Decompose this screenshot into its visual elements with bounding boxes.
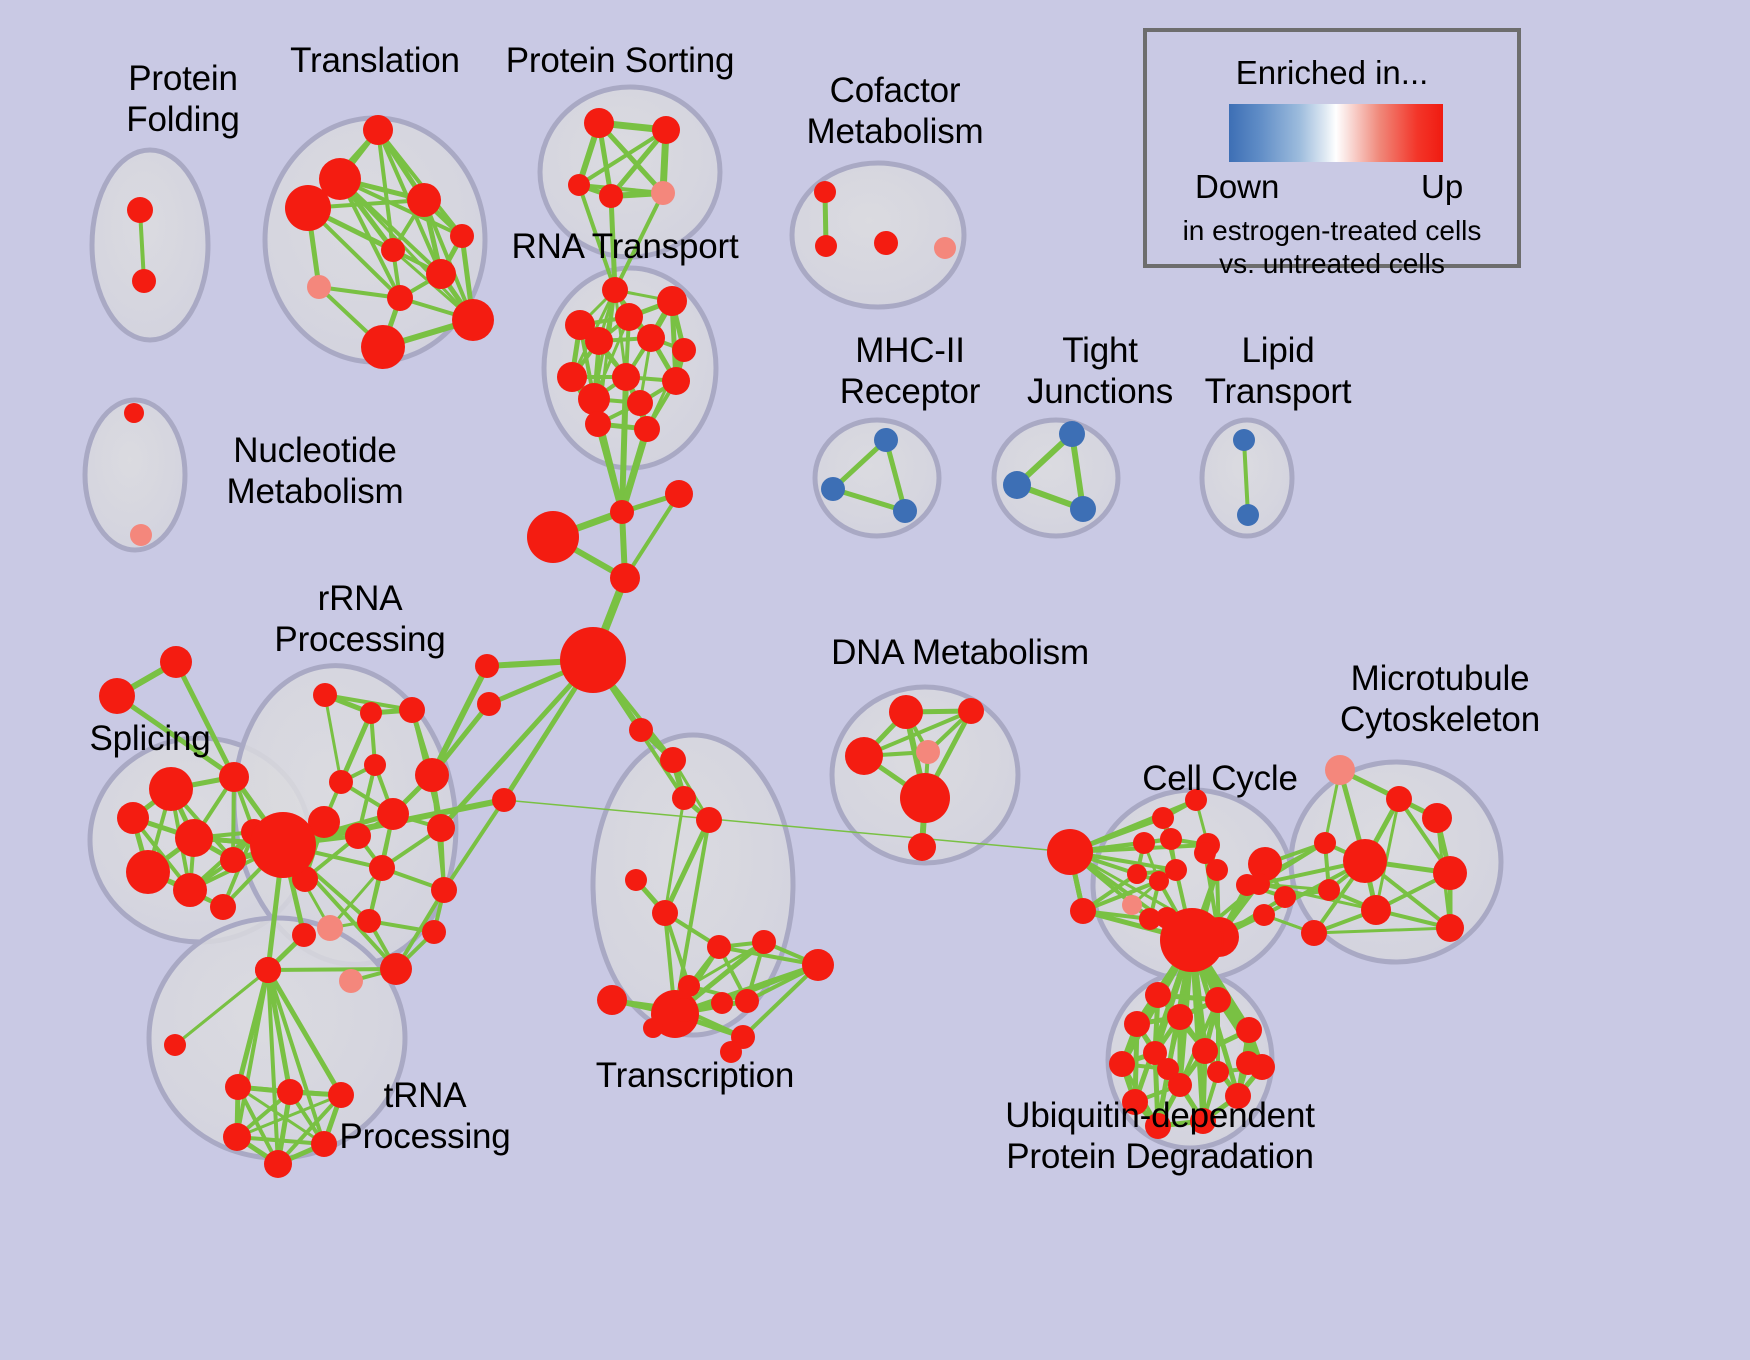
gene-set-node-microtubule-cytoskeleton xyxy=(1301,920,1327,946)
gene-set-node-ubiquitin-protein-degradation xyxy=(1162,910,1222,970)
gene-set-node-nucleotide-metabolism xyxy=(124,403,144,423)
gene-set-node-splicing xyxy=(117,802,149,834)
gene-set-node-rrna-processing xyxy=(422,920,446,944)
gene-set-node-cell-cycle xyxy=(1070,898,1096,924)
gene-set-node-transcription xyxy=(660,747,686,773)
gene-set-node-rna-transport xyxy=(634,416,660,442)
gene-set-node-ubiquitin-protein-degradation xyxy=(1190,1108,1216,1134)
gene-set-node-microtubule-cytoskeleton xyxy=(1436,914,1464,942)
gene-set-node-cofactor-metabolism xyxy=(874,231,898,255)
gene-set-node-rrna-processing xyxy=(415,758,449,792)
gene-set-node-trna-processing xyxy=(255,957,281,983)
gene-set-node-splicing xyxy=(149,767,193,811)
gene-set-node-rna-transport xyxy=(585,411,611,437)
gene-set-node-bridge xyxy=(475,654,499,678)
gene-set-node-rna-transport xyxy=(637,324,665,352)
gene-set-node-bridge xyxy=(610,563,640,593)
gene-set-node-transcription xyxy=(802,949,834,981)
gene-set-node-ubiquitin-protein-degradation xyxy=(1167,1004,1193,1030)
gene-set-node-transcription xyxy=(735,989,759,1013)
gene-set-node-transcription xyxy=(752,930,776,954)
gene-set-node-transcription xyxy=(711,992,733,1014)
gene-set-node-translation xyxy=(452,299,494,341)
gene-set-node-lipid-transport xyxy=(1237,504,1259,526)
gene-set-node-rna-transport xyxy=(612,363,640,391)
gene-set-node-rna-transport xyxy=(662,367,690,395)
gene-set-node-rrna-processing xyxy=(369,855,395,881)
cluster-ellipse-protein-folding xyxy=(92,150,208,340)
gene-set-node-tight-junctions xyxy=(1003,471,1031,499)
gene-set-node-transcription xyxy=(672,998,696,1022)
gene-set-node-protein-folding xyxy=(132,269,156,293)
gene-set-node-rna-transport xyxy=(627,390,653,416)
gene-set-node-translation xyxy=(307,275,331,299)
gene-set-node-splicing xyxy=(173,873,207,907)
gene-set-node-protein-sorting xyxy=(652,116,680,144)
edge-rrna-processing xyxy=(268,969,396,970)
gene-set-node-trna-processing xyxy=(311,1131,337,1157)
gene-set-node-cell-cycle xyxy=(1160,828,1182,850)
gene-set-node-ubiquitin-protein-degradation xyxy=(1236,1017,1262,1043)
gene-set-node-transcription xyxy=(643,1018,663,1038)
gene-set-node-ubiquitin-protein-degradation xyxy=(1122,1089,1148,1115)
gene-set-node-cell-cycle xyxy=(1152,807,1174,829)
gene-set-node-cell-cycle xyxy=(1206,859,1228,881)
gene-set-node-ubiquitin-protein-degradation xyxy=(1124,1011,1150,1037)
gene-set-node-bridge xyxy=(610,500,634,524)
gene-set-node-dna-metabolism xyxy=(889,695,923,729)
gene-set-node-mhc-ii-receptor xyxy=(874,428,898,452)
gene-set-node-translation xyxy=(285,185,331,231)
gene-set-node-microtubule-cytoskeleton xyxy=(1253,904,1275,926)
gene-set-node-transcription xyxy=(672,786,696,810)
gene-set-node-microtubule-cytoskeleton xyxy=(1314,832,1336,854)
gene-set-node-protein-sorting xyxy=(584,108,614,138)
legend-high-label: Up xyxy=(1421,168,1463,206)
gene-set-node-mhc-ii-receptor xyxy=(893,499,917,523)
gene-set-node-rrna-processing xyxy=(357,909,381,933)
legend-low-label: Down xyxy=(1195,168,1279,206)
gene-set-node-transcription xyxy=(696,807,722,833)
gene-set-node-splicing xyxy=(160,646,192,678)
network-figure: Protein FoldingTranslationProtein Sortin… xyxy=(0,0,1750,1360)
gene-set-node-rna-transport xyxy=(578,383,610,415)
gene-set-node-rna-transport xyxy=(557,362,587,392)
gene-set-node-rrna-processing xyxy=(360,702,382,724)
gene-set-node-transcription xyxy=(707,935,731,959)
gene-set-node-ubiquitin-protein-degradation xyxy=(1192,1038,1218,1064)
gene-set-node-cell-cycle xyxy=(1149,871,1169,891)
gene-set-node-tight-junctions xyxy=(1070,496,1096,522)
gene-set-node-bridge xyxy=(527,511,579,563)
gene-set-node-dna-metabolism xyxy=(958,698,984,724)
gene-set-node-cell-cycle xyxy=(1185,789,1207,811)
gene-set-node-transcription xyxy=(597,985,627,1015)
gene-set-node-translation xyxy=(381,238,405,262)
gene-set-node-bridge xyxy=(629,718,653,742)
gene-set-node-rrna-processing xyxy=(345,823,371,849)
gene-set-node-rrna-processing xyxy=(431,877,457,903)
gene-set-node-translation xyxy=(361,325,405,369)
legend-panel: Enriched in... Down Up in estrogen-treat… xyxy=(1143,28,1521,268)
gene-set-node-splicing xyxy=(210,894,236,920)
gene-set-node-translation xyxy=(450,224,474,248)
gene-set-node-dna-metabolism xyxy=(900,773,950,823)
legend-title: Enriched in... xyxy=(1147,54,1517,92)
gene-set-node-transcription xyxy=(720,1041,742,1063)
gene-set-node-cell-cycle xyxy=(1047,829,1093,875)
gene-set-node-protein-sorting xyxy=(599,184,623,208)
gene-set-node-lipid-transport xyxy=(1233,429,1255,451)
gene-set-node-splicing xyxy=(99,678,135,714)
gene-set-node-rna-transport xyxy=(672,338,696,362)
gene-set-node-trna-processing xyxy=(277,1079,303,1105)
gene-set-node-ubiquitin-protein-degradation xyxy=(1225,1083,1251,1109)
gene-set-node-trna-processing xyxy=(264,1150,292,1178)
gene-set-node-microtubule-cytoskeleton xyxy=(1361,895,1391,925)
gene-set-node-microtubule-cytoskeleton xyxy=(1386,786,1412,812)
gene-set-node-bridge xyxy=(292,923,316,947)
gene-set-node-protein-folding xyxy=(127,197,153,223)
gene-set-node-rrna-processing xyxy=(339,969,363,993)
gene-set-node-protein-sorting xyxy=(651,181,675,205)
gene-set-node-splicing xyxy=(219,762,249,792)
gene-set-node-rrna-processing xyxy=(329,770,353,794)
gene-set-node-ubiquitin-protein-degradation xyxy=(1145,982,1171,1008)
gene-set-node-rrna-processing xyxy=(364,754,386,776)
gene-set-node-translation xyxy=(407,183,441,217)
gene-set-node-cell-cycle xyxy=(1127,864,1147,884)
gene-set-node-tight-junctions xyxy=(1059,421,1085,447)
gene-set-node-translation xyxy=(426,259,456,289)
gene-set-node-rna-transport xyxy=(615,303,643,331)
gene-set-node-trna-processing xyxy=(225,1074,251,1100)
gene-set-node-microtubule-cytoskeleton xyxy=(1325,755,1355,785)
gene-set-node-cofactor-metabolism xyxy=(814,181,836,203)
gene-set-node-cofactor-metabolism xyxy=(815,235,837,257)
gene-set-node-rrna-processing xyxy=(313,683,337,707)
gene-set-node-microtubule-cytoskeleton xyxy=(1422,803,1452,833)
gene-set-node-transcription xyxy=(652,900,678,926)
gene-set-node-ubiquitin-protein-degradation xyxy=(1205,987,1231,1013)
gene-set-node-dna-metabolism xyxy=(845,737,883,775)
gene-set-node-microtubule-cytoskeleton xyxy=(1318,879,1340,901)
gene-set-node-ubiquitin-protein-degradation xyxy=(1157,1058,1179,1080)
gene-set-node-splicing xyxy=(220,847,246,873)
gene-set-node-ubiquitin-protein-degradation xyxy=(1236,1051,1260,1075)
gene-set-node-rna-transport xyxy=(585,327,613,355)
gene-set-node-bridge xyxy=(560,627,626,693)
gene-set-node-cell-cycle xyxy=(1139,908,1161,930)
gene-set-node-rrna-processing xyxy=(250,812,316,878)
gene-set-node-splicing xyxy=(126,850,170,894)
gene-set-node-rrna-processing xyxy=(380,953,412,985)
gene-set-node-cell-cycle xyxy=(1122,895,1142,915)
gene-set-node-cofactor-metabolism xyxy=(934,237,956,259)
gene-set-node-translation xyxy=(387,285,413,311)
gene-set-node-bridge xyxy=(492,788,516,812)
gene-set-node-translation xyxy=(363,115,393,145)
gene-set-node-bridge xyxy=(665,480,693,508)
gene-set-node-microtubule-cytoskeleton xyxy=(1248,873,1270,895)
legend-color-gradient xyxy=(1229,104,1443,162)
gene-set-node-rrna-processing xyxy=(317,915,343,941)
gene-set-node-splicing xyxy=(175,819,213,857)
gene-set-node-rna-transport xyxy=(602,277,628,303)
gene-set-node-microtubule-cytoskeleton xyxy=(1343,839,1387,883)
gene-set-node-dna-metabolism xyxy=(916,740,940,764)
gene-set-node-mhc-ii-receptor xyxy=(821,477,845,501)
gene-set-node-rrna-processing xyxy=(377,798,409,830)
gene-set-node-transcription xyxy=(625,869,647,891)
legend-caption: in estrogen-treated cells vs. untreated … xyxy=(1147,214,1517,280)
gene-set-node-protein-sorting xyxy=(568,174,590,196)
edge-inter-cluster xyxy=(441,660,593,828)
gene-set-node-rrna-processing xyxy=(399,697,425,723)
gene-set-node-bridge xyxy=(477,692,501,716)
gene-set-node-rna-transport xyxy=(657,286,687,316)
gene-set-node-cell-cycle xyxy=(1274,886,1296,908)
gene-set-node-ubiquitin-protein-degradation xyxy=(1207,1061,1229,1083)
gene-set-node-rrna-processing xyxy=(427,814,455,842)
gene-set-node-dna-metabolism xyxy=(908,833,936,861)
gene-set-node-cell-cycle xyxy=(1133,832,1155,854)
gene-set-node-trna-processing xyxy=(328,1082,354,1108)
gene-set-node-ubiquitin-protein-degradation xyxy=(1109,1051,1135,1077)
gene-set-node-ubiquitin-protein-degradation xyxy=(1145,1113,1171,1139)
gene-set-node-trna-processing xyxy=(164,1034,186,1056)
gene-set-node-microtubule-cytoskeleton xyxy=(1433,856,1467,890)
gene-set-node-trna-processing xyxy=(223,1123,251,1151)
gene-set-node-nucleotide-metabolism xyxy=(130,524,152,546)
